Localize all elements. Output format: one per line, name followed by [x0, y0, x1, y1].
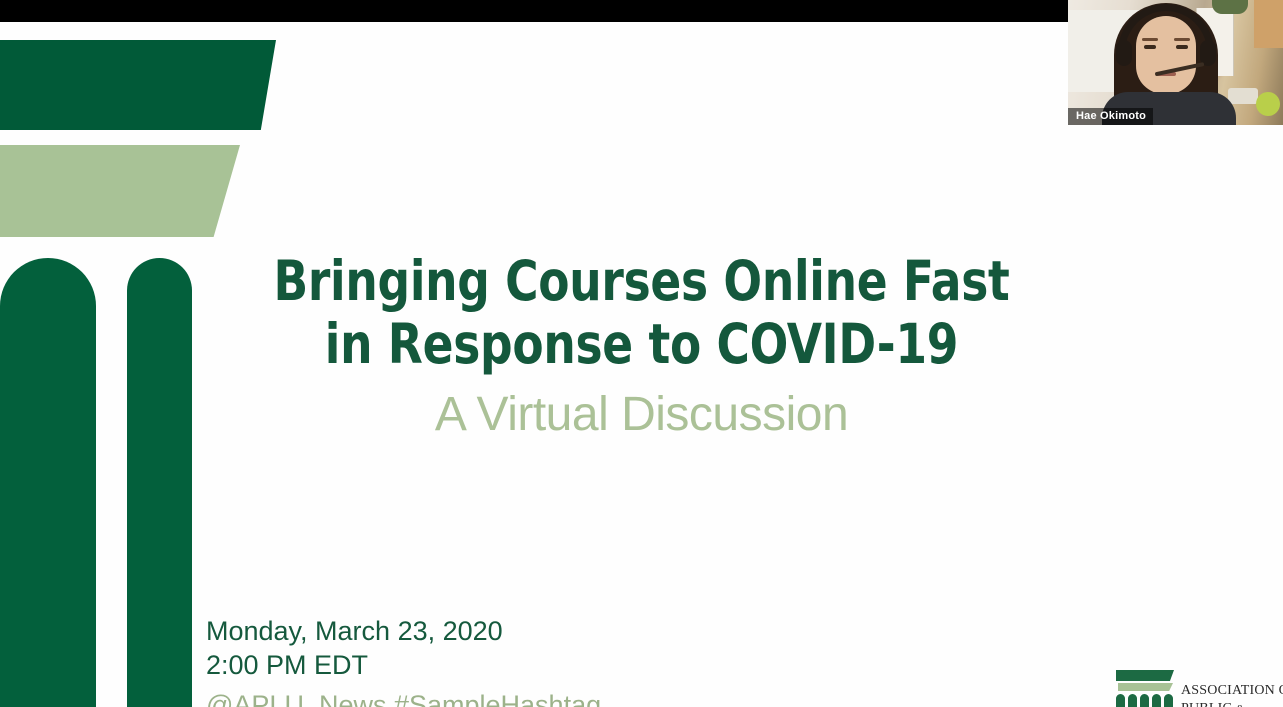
aplu-logo-text: ASSOCIATION OF PUBLIC & [1181, 682, 1283, 707]
video-background-plant [1212, 0, 1248, 14]
slide-social-handle: @APLU_News #SampleHashtag [206, 688, 601, 707]
slide-title-line-1: Bringing Courses Online Fast [51, 250, 1231, 313]
video-participant-name-label: Hae Okimoto [1068, 108, 1153, 125]
slide-time: 2:00 PM EDT [206, 648, 503, 682]
screenshot-root: Bringing Courses Online Fast in Response… [0, 0, 1283, 707]
video-background-object [1228, 88, 1258, 104]
slide-title: Bringing Courses Online Fast in Response… [51, 250, 1231, 376]
aplu-logo-text-line-1: ASSOCIATION OF [1181, 682, 1283, 700]
slide-title-line-2: in Response to COVID-19 [51, 313, 1231, 376]
aplu-logo-text-public: PUBLIC [1181, 701, 1232, 707]
decorative-sage-green-trapezoid [0, 145, 240, 237]
logo-cap-sage [1118, 683, 1173, 691]
video-background-green-ball [1256, 92, 1280, 116]
logo-cap-dark [1116, 670, 1174, 681]
logo-pillar-4 [1152, 694, 1161, 707]
logo-pillar-1 [1116, 694, 1125, 707]
aplu-logo-columns-icon [1113, 668, 1179, 707]
aplu-logo-ampersand: & [1236, 703, 1245, 707]
slide-date: Monday, March 23, 2020 [206, 614, 503, 648]
decorative-dark-green-trapezoid [0, 40, 276, 130]
logo-pillar-2 [1128, 694, 1137, 707]
logo-pillar-3 [1140, 694, 1149, 707]
window-top-black-bar [0, 0, 1068, 22]
video-background-cabinet [1254, 0, 1283, 48]
aplu-logo-text-line-2: PUBLIC & [1181, 700, 1283, 707]
slide-datetime: Monday, March 23, 2020 2:00 PM EDT [206, 614, 503, 682]
logo-pillar-5 [1164, 694, 1173, 707]
headset-earcup-left [1116, 40, 1132, 66]
aplu-logo: ASSOCIATION OF PUBLIC & [1113, 668, 1283, 707]
video-participant-tile[interactable]: Hae Okimoto [1068, 0, 1283, 125]
slide-subtitle: A Virtual Discussion [0, 387, 1283, 443]
